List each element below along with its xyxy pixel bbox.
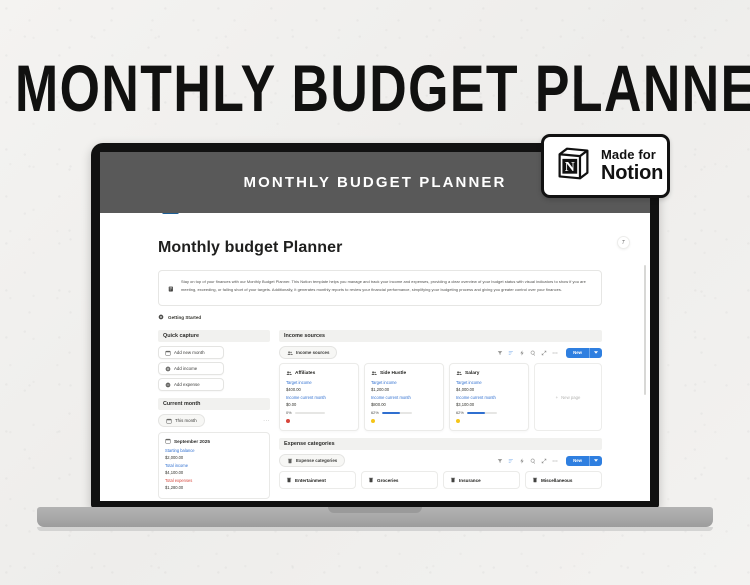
income-sources-db-label: Income sources xyxy=(296,350,329,355)
page-title: MONTHLY BUDGET PLANNER xyxy=(15,56,735,122)
expense-card-miscellaneous[interactable]: Miscellaneous xyxy=(525,471,602,489)
notion-page-title: Monthly budget Planner xyxy=(158,239,602,257)
add-new-month-button[interactable]: Add new month xyxy=(158,346,224,359)
target-income-label: Target income xyxy=(456,380,522,385)
add-expense-label: Add expense xyxy=(174,382,200,387)
filter-icon[interactable] xyxy=(497,350,503,356)
search-icon[interactable] xyxy=(530,350,536,356)
total-income-label: Total income xyxy=(165,463,263,468)
people-icon xyxy=(371,370,377,376)
progress-percent: 62% xyxy=(456,410,464,415)
this-month-label: This month xyxy=(175,418,197,423)
status-badge xyxy=(456,419,460,423)
income-sources-heading: Income sources xyxy=(279,330,602,342)
expense-card-title: Insurance xyxy=(459,478,481,483)
badge-notion-label: Notion xyxy=(601,162,663,184)
expense-new-button[interactable]: New xyxy=(566,456,602,466)
people-icon xyxy=(287,350,293,356)
ellipsis-icon[interactable]: ··· xyxy=(263,418,270,424)
expense-card-groceries[interactable]: Groceries xyxy=(361,471,438,489)
progress-percent: 0% xyxy=(286,410,292,415)
notion-page: 𝑇 Monthly budget Planner Stay on top of … xyxy=(100,213,650,501)
expense-card-entertainment[interactable]: Entertainment xyxy=(279,471,356,489)
income-card-salary[interactable]: Salary Target income $4,000.00 Income cu… xyxy=(449,363,529,431)
description-callout: Stay on top of your finances with our Mo… xyxy=(158,270,602,306)
current-month-heading: Current month xyxy=(158,398,270,410)
right-column: Income sources Income sources xyxy=(279,330,602,499)
add-income-button[interactable]: Add income xyxy=(158,362,224,375)
target-income-label: Target income xyxy=(286,380,352,385)
add-new-month-label: Add new month xyxy=(174,350,205,355)
laptop-foot xyxy=(37,527,713,531)
svg-text:N: N xyxy=(565,160,575,175)
laptop-base xyxy=(37,507,713,527)
income-card-affiliates[interactable]: Affiliates Target income $400.00 Income … xyxy=(279,363,359,431)
progress-percent: 62% xyxy=(371,410,379,415)
current-income-label: Income current month xyxy=(286,395,352,400)
new-page-card[interactable]: + New page xyxy=(534,363,602,431)
expense-card-title: Entertainment xyxy=(295,478,326,483)
sort-icon[interactable] xyxy=(508,350,514,356)
current-income-value: $800.00 xyxy=(371,402,437,407)
trash-icon xyxy=(287,458,293,464)
calendar-icon xyxy=(165,438,171,444)
chevron-down-icon[interactable] xyxy=(589,348,602,358)
memo-icon xyxy=(168,279,174,297)
total-expenses-label: Total expenses xyxy=(165,478,263,483)
starting-balance-label: Starting balance xyxy=(165,448,263,453)
current-month-title: September 2025 xyxy=(174,439,210,444)
expense-categories-card-grid: Entertainment Groceries xyxy=(279,471,602,489)
lightning-icon[interactable] xyxy=(519,458,525,464)
current-income-label: Income current month xyxy=(456,395,522,400)
expense-categories-db-title[interactable]: Expense categories xyxy=(279,454,345,467)
target-income-value: $400.00 xyxy=(286,387,352,392)
expense-categories-toolbar: Expense categories xyxy=(279,454,602,467)
status-badge xyxy=(286,419,290,423)
notion-cube-icon: N xyxy=(555,145,592,187)
expand-icon[interactable] xyxy=(541,350,547,356)
current-month-card[interactable]: September 2025 Starting balance $2,000.0… xyxy=(158,432,270,499)
income-card-title: Side Hustle xyxy=(380,371,406,376)
expense-card-title: Miscellaneous xyxy=(541,478,572,483)
search-icon[interactable] xyxy=(530,458,536,464)
starting-balance-value: $2,000.00 xyxy=(165,455,263,460)
description-text: Stay on top of your finances with our Mo… xyxy=(181,278,592,297)
progress-bar xyxy=(382,412,412,414)
expand-icon[interactable] xyxy=(541,458,547,464)
calendar-icon xyxy=(166,418,172,424)
add-expense-button[interactable]: Add expense xyxy=(158,378,224,391)
made-for-notion-badge: N Made for Notion xyxy=(541,134,670,198)
income-card-side-hustle[interactable]: Side Hustle Target income $1,200.00 Inco… xyxy=(364,363,444,431)
target-income-label: Target income xyxy=(371,380,437,385)
calendar-icon xyxy=(165,350,171,356)
total-income-value: $4,100.00 xyxy=(165,470,263,475)
lightning-icon[interactable] xyxy=(519,350,525,356)
status-badge xyxy=(371,419,375,423)
left-column: Quick capture Add new month Add income xyxy=(158,330,270,499)
vertical-scrollbar[interactable] xyxy=(644,265,647,395)
people-icon xyxy=(286,370,292,376)
receipt-icon xyxy=(532,477,538,483)
receipt-icon xyxy=(286,477,292,483)
current-income-label: Income current month xyxy=(371,395,437,400)
money-banknote-icon[interactable] xyxy=(162,213,179,214)
expense-categories-db-label: Expense categories xyxy=(296,458,337,463)
progress-bar xyxy=(467,412,497,414)
badge-made-for-label: Made for xyxy=(601,148,663,162)
income-sources-card-grid: Affiliates Target income $400.00 Income … xyxy=(279,363,602,431)
target-income-value: $4,000.00 xyxy=(456,387,522,392)
chevron-down-icon[interactable] xyxy=(589,456,602,466)
ellipsis-icon[interactable] xyxy=(552,458,558,464)
expense-card-title: Groceries xyxy=(377,478,398,483)
expense-new-label: New xyxy=(566,456,589,466)
current-income-value: $0.00 xyxy=(286,402,352,407)
receipt-icon xyxy=(450,477,456,483)
ellipsis-icon[interactable] xyxy=(552,350,558,356)
getting-started-label: Getting Started xyxy=(168,315,201,320)
plus-circle-icon xyxy=(165,366,171,372)
this-month-filter[interactable]: This month xyxy=(158,414,205,427)
target-income-value: $1,200.00 xyxy=(371,387,437,392)
income-sources-db-title[interactable]: Income sources xyxy=(279,346,337,359)
income-new-label: New xyxy=(566,348,589,358)
sort-icon[interactable] xyxy=(508,458,514,464)
new-page-label: New page xyxy=(561,395,580,400)
current-income-value: $3,100.00 xyxy=(456,402,522,407)
income-card-title: Salary xyxy=(465,371,479,376)
filter-icon[interactable] xyxy=(497,458,503,464)
total-expenses-value: $1,280.00 xyxy=(165,485,263,490)
quick-capture-heading: Quick capture xyxy=(158,330,270,342)
gear-icon xyxy=(158,314,164,320)
minus-circle-icon xyxy=(165,382,171,388)
add-income-label: Add income xyxy=(174,366,197,371)
expense-categories-heading: Expense categories xyxy=(279,438,602,450)
income-new-button[interactable]: New xyxy=(566,348,602,358)
people-icon xyxy=(456,370,462,376)
plus-icon: + xyxy=(556,395,559,400)
receipt-icon xyxy=(368,477,374,483)
text-style-icon[interactable]: 𝑇 xyxy=(617,236,630,249)
income-sources-toolbar: Income sources xyxy=(279,346,602,359)
progress-bar xyxy=(295,412,325,414)
income-card-title: Affiliates xyxy=(295,371,315,376)
getting-started-toggle[interactable]: Getting Started xyxy=(158,314,602,320)
expense-card-insurance[interactable]: Insurance xyxy=(443,471,520,489)
laptop-screen: MONTHLY BUDGET PLANNER 𝑇 Monthly budget … xyxy=(100,152,650,501)
